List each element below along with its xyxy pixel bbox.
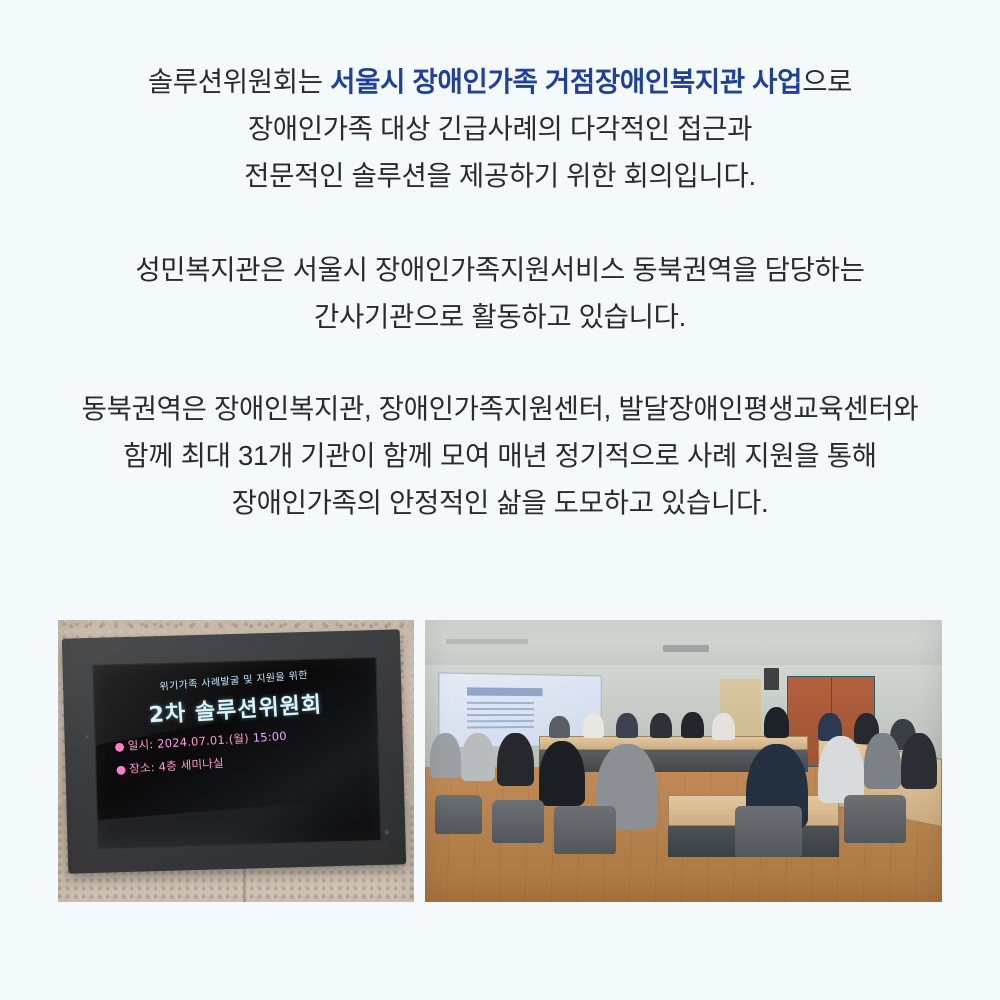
attendee xyxy=(539,741,586,806)
photo-row: 위기가족 사례발굴 및 지원을 위한 2차 솔루션위원회 ●일시: 2024.0… xyxy=(58,620,942,902)
blackboard-handwriting: 위기가족 사례발굴 및 지원을 위한 2차 솔루션위원회 ●일시: 2024.0… xyxy=(93,663,380,779)
chair xyxy=(492,800,544,842)
attendee xyxy=(616,713,638,738)
attendee xyxy=(901,733,937,789)
paragraph-3-line-3: 장애인가족의 안정적인 삶을 도모하고 있습니다. xyxy=(0,479,1000,526)
bullet-icon: ● xyxy=(116,762,127,777)
board-detail-date-label: 일시: xyxy=(127,737,153,753)
infographic-card: 솔루션위원회는 서울시 장애인가족 거점장애인복지관 사업으로 장애인가족 대상… xyxy=(0,0,1000,1000)
body-copy: 솔루션위원회는 서울시 장애인가족 거점장애인복지관 사업으로 장애인가족 대상… xyxy=(0,58,1000,526)
paragraph-1-line-2: 장애인가족 대상 긴급사례의 다각적인 접근과 xyxy=(0,105,1000,152)
paragraph-1: 솔루션위원회는 서울시 장애인가족 거점장애인복지관 사업으로 장애인가족 대상… xyxy=(0,58,1000,199)
paragraph-1-line-1-prefix: 솔루션위원회는 xyxy=(148,66,330,97)
attendee xyxy=(549,716,570,739)
paragraph-1-line-1-suffix: 으로 xyxy=(802,66,852,97)
ceiling xyxy=(425,620,942,665)
chair xyxy=(435,795,482,834)
blackboard-surface: 위기가족 사례발굴 및 지원을 위한 2차 솔루션위원회 ●일시: 2024.0… xyxy=(93,657,382,849)
attendee xyxy=(583,713,605,738)
attendee xyxy=(650,713,672,738)
paragraph-1-line-1: 솔루션위원회는 서울시 장애인가족 거점장애인복지관 사업으로 xyxy=(0,58,1000,105)
attendee xyxy=(461,733,495,781)
frame-screw-icon xyxy=(384,830,389,835)
paragraph-1-line-3: 전문적인 솔루션을 제공하기 위한 회의입니다. xyxy=(0,152,1000,199)
glare-highlight xyxy=(93,792,382,848)
attendee xyxy=(764,707,790,738)
attendee xyxy=(712,713,735,740)
paragraph-3-line-2: 함께 최대 31개 기관이 함께 모여 매년 정기적으로 사례 지원을 통해 xyxy=(0,432,1000,479)
blackboard-frame: 위기가족 사례발굴 및 지원을 위한 2차 솔루션위원회 ●일시: 2024.0… xyxy=(62,629,406,873)
frame-screw-icon xyxy=(84,734,89,739)
board-detail-place-label: 장소: xyxy=(129,760,155,776)
board-detail-date-value: 2024.07.01.(월) xyxy=(157,731,250,751)
attendee xyxy=(497,733,533,787)
paragraph-3: 동북권역은 장애인복지관, 장애인가족지원센터, 발달장애인평생교육센터와 함께… xyxy=(0,385,1000,526)
wall-speaker-icon xyxy=(764,668,780,691)
paragraph-3-line-1: 동북권역은 장애인복지관, 장애인가족지원센터, 발달장애인평생교육센터와 xyxy=(0,385,1000,432)
attendee xyxy=(864,733,900,789)
attendee xyxy=(681,712,704,739)
chair xyxy=(735,806,802,857)
paragraph-2-line-2: 간사기관으로 활동하고 있습니다. xyxy=(0,293,1000,340)
meeting-room-photo xyxy=(425,620,942,902)
blackboard-sign-photo: 위기가족 사례발굴 및 지원을 위한 2차 솔루션위원회 ●일시: 2024.0… xyxy=(58,620,414,902)
paragraph-1-line-1-accent: 서울시 장애인가족 거점장애인복지관 사업 xyxy=(330,66,802,97)
chair xyxy=(844,795,906,843)
attendee xyxy=(430,733,461,778)
bullet-icon: ● xyxy=(114,739,125,754)
paragraph-2: 성민복지관은 서울시 장애인가족지원서비스 동북권역을 담당하는 간사기관으로 … xyxy=(0,246,1000,340)
board-detail-place-value: 4층 세미나실 xyxy=(158,756,224,774)
paragraph-2-line-1: 성민복지관은 서울시 장애인가족지원서비스 동북권역을 담당하는 xyxy=(0,246,1000,293)
board-detail-time: 15:00 xyxy=(252,729,287,745)
chair xyxy=(554,806,616,854)
